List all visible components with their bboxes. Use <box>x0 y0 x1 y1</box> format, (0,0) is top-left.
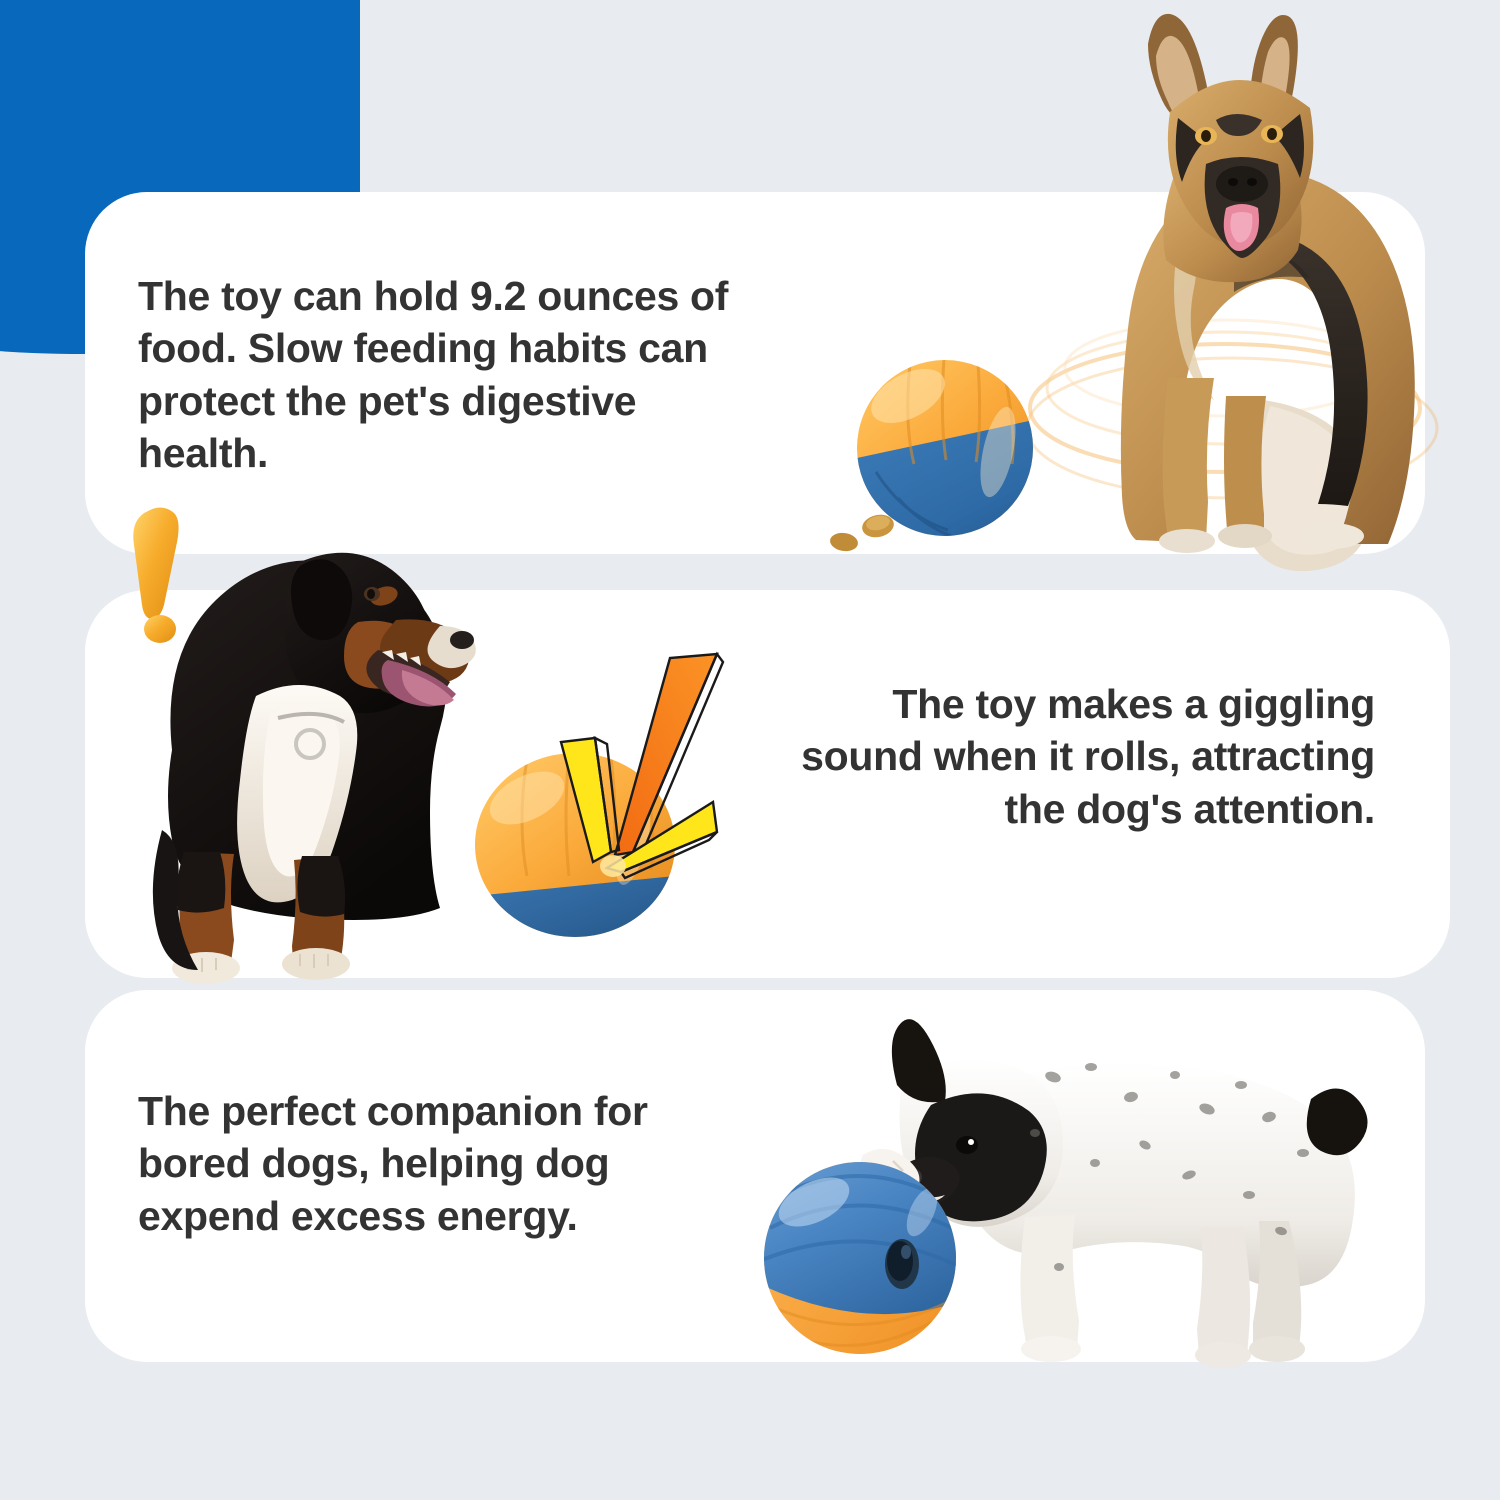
feature-text-energy: The perfect companion for bored dogs, he… <box>138 1085 698 1242</box>
feature-text-capacity: The toy can hold 9.2 ounces of food. Slo… <box>138 270 758 480</box>
toy-ball-orange-top <box>840 348 1060 558</box>
treat-dispense-hole <box>885 1239 919 1289</box>
feature-text-sound: The toy makes a giggling sound when it r… <box>775 678 1375 835</box>
infographic-canvas: The toy can hold 9.2 ounces of food. Slo… <box>0 0 1500 1500</box>
toy-ball-with-sound-rays <box>465 630 765 960</box>
german-shepherd-photo <box>1020 8 1440 556</box>
exclamation-mark-icon <box>120 505 204 645</box>
toy-ball-blue-top <box>752 1148 972 1368</box>
